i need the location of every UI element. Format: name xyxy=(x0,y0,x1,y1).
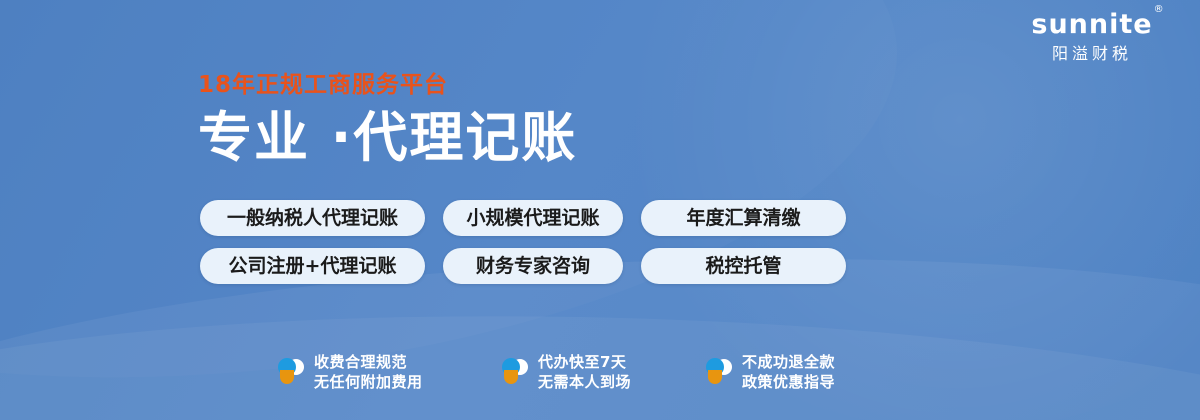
registered-trademark-icon: ® xyxy=(1154,5,1165,15)
feature-item-speed: 代办快至7天 无需本人到场 xyxy=(502,352,663,392)
feature-list: 收费合理规范 无任何附加费用 代办快至7天 无需本人到场 不成功退全款 xyxy=(278,352,915,392)
pill-tax-control-hosting[interactable]: 税控托管 xyxy=(641,248,846,284)
promo-banner: sunnite ® 阳溢财税 18年正规工商服务平台 专业 ·代理记账 一般纳税… xyxy=(0,0,1200,420)
feature-item-guarantee: 不成功退全款 政策优惠指导 xyxy=(706,352,872,392)
dot-badge-icon xyxy=(706,357,732,387)
headline-block: 18年正规工商服务平台 专业 ·代理记账 xyxy=(198,72,577,170)
logo-wordmark: sunnite ® xyxy=(1031,10,1152,40)
page-title: 专业 ·代理记账 xyxy=(198,106,577,170)
pill-row-2: 公司注册+代理记账 财务专家咨询 税控托管 xyxy=(200,248,846,284)
brand-logo[interactable]: sunnite ® 阳溢财税 xyxy=(1002,10,1182,64)
dot-badge-icon xyxy=(502,357,528,387)
pill-finance-expert-consulting[interactable]: 财务专家咨询 xyxy=(443,248,623,284)
logo-wordmark-text: sunnite xyxy=(1031,9,1152,40)
dot-badge-orange-base xyxy=(708,370,722,384)
feature-text-guarantee: 不成功退全款 政策优惠指导 xyxy=(742,352,872,392)
feature-line-2: 无需本人到场 xyxy=(538,372,663,392)
feature-line-2: 无任何附加费用 xyxy=(314,372,459,392)
pill-small-scale-bookkeeping[interactable]: 小规模代理记账 xyxy=(443,200,623,236)
logo-chinese-name: 阳溢财税 xyxy=(1002,44,1182,64)
feature-line-1: 代办快至7天 xyxy=(538,352,663,372)
pill-annual-tax-settlement[interactable]: 年度汇算清缴 xyxy=(641,200,846,236)
feature-line-2: 政策优惠指导 xyxy=(742,372,872,392)
pill-general-taxpayer-bookkeeping[interactable]: 一般纳税人代理记账 xyxy=(200,200,425,236)
service-pill-group: 一般纳税人代理记账 小规模代理记账 年度汇算清缴 公司注册+代理记账 财务专家咨… xyxy=(200,200,846,296)
dot-badge-orange-base xyxy=(504,370,518,384)
feature-text-speed: 代办快至7天 无需本人到场 xyxy=(538,352,663,392)
pill-row-1: 一般纳税人代理记账 小规模代理记账 年度汇算清缴 xyxy=(200,200,846,236)
eyebrow-tagline: 18年正规工商服务平台 xyxy=(198,72,577,98)
pill-company-registration-bookkeeping[interactable]: 公司注册+代理记账 xyxy=(200,248,425,284)
feature-line-1: 不成功退全款 xyxy=(742,352,872,372)
feature-line-1: 收费合理规范 xyxy=(314,352,459,372)
dot-badge-icon xyxy=(278,357,304,387)
feature-text-pricing: 收费合理规范 无任何附加费用 xyxy=(314,352,459,392)
feature-item-pricing: 收费合理规范 无任何附加费用 xyxy=(278,352,459,392)
dot-badge-orange-base xyxy=(280,370,294,384)
